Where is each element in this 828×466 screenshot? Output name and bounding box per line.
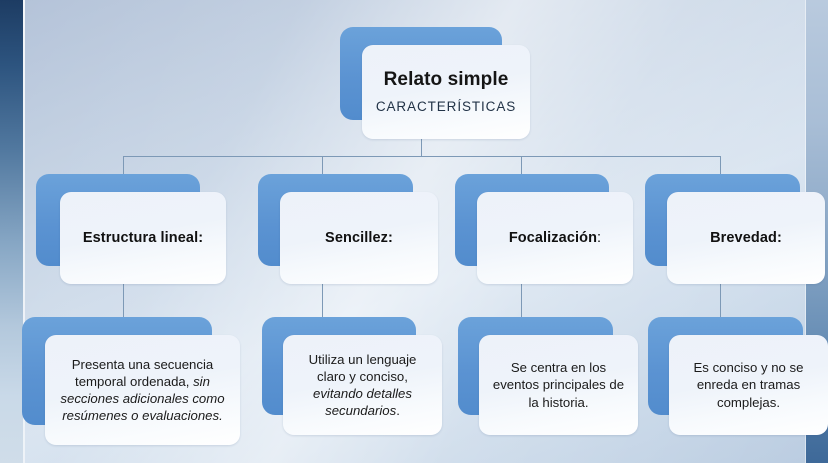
root-title: Relato simple: [384, 70, 509, 91]
branch-label-4-text: Brevedad:: [710, 230, 782, 246]
desc-node-2[interactable]: Utiliza un lenguaje claro y conciso, evi…: [262, 317, 442, 435]
slide-canvas: Relato simple CARACTERÍSTICAS Estructura…: [0, 0, 828, 466]
desc-node-4[interactable]: Es conciso y no se enreda en tramas comp…: [648, 317, 828, 435]
branch-label-3-colon: :: [597, 230, 601, 246]
desc-text-2: Utiliza un lenguaje claro y conciso, evi…: [283, 351, 442, 420]
desc-node-3-card[interactable]: Se centra en los eventos principales de …: [479, 335, 638, 435]
desc-node-3[interactable]: Se centra en los eventos principales de …: [458, 317, 638, 435]
branch-node-4-card[interactable]: Brevedad:: [667, 192, 825, 284]
branch-node-2[interactable]: Sencillez:: [258, 174, 438, 284]
desc-text-4-plain: Es conciso y no se enreda en tramas comp…: [694, 360, 804, 409]
branch-label-3-text: Focalización: [509, 230, 597, 246]
desc-text-1: Presenta una secuencia temporal ordenada…: [45, 356, 240, 425]
desc-node-1[interactable]: Presenta una secuencia temporal ordenada…: [22, 317, 240, 445]
desc-text-3: Se centra en los eventos principales de …: [479, 359, 638, 410]
desc-node-2-card[interactable]: Utiliza un lenguaje claro y conciso, evi…: [283, 335, 442, 435]
branch-label-2: Sencillez:: [325, 230, 393, 247]
connector-bus: [123, 156, 720, 157]
desc-text-2-tail: .: [396, 403, 400, 418]
branch-label-4: Brevedad:: [710, 230, 782, 247]
branch-label-3: Focalización:: [509, 230, 601, 247]
left-edge-band: [0, 0, 23, 466]
branch-node-1[interactable]: Estructura lineal:: [36, 174, 226, 284]
branch-node-4[interactable]: Brevedad:: [645, 174, 825, 284]
branch-label-1-text: Estructura lineal:: [83, 230, 203, 246]
root-node[interactable]: Relato simple CARACTERÍSTICAS: [340, 27, 530, 139]
branch-node-3[interactable]: Focalización:: [455, 174, 633, 284]
desc-node-4-card[interactable]: Es conciso y no se enreda en tramas comp…: [669, 335, 828, 435]
desc-text-2-plain: Utiliza un lenguaje claro y conciso,: [309, 352, 417, 384]
desc-text-3-plain: Se centra en los eventos principales de …: [493, 360, 624, 409]
branch-node-3-card[interactable]: Focalización:: [477, 192, 633, 284]
branch-node-1-card[interactable]: Estructura lineal:: [60, 192, 226, 284]
desc-node-1-card[interactable]: Presenta una secuencia temporal ordenada…: [45, 335, 240, 445]
root-node-card[interactable]: Relato simple CARACTERÍSTICAS: [362, 45, 530, 139]
branch-label-2-text: Sencillez:: [325, 230, 393, 246]
branch-node-2-card[interactable]: Sencillez:: [280, 192, 438, 284]
connector-root-stem: [421, 136, 422, 157]
root-subtitle: CARACTERÍSTICAS: [376, 100, 516, 115]
desc-text-4: Es conciso y no se enreda en tramas comp…: [669, 359, 828, 410]
branch-label-1: Estructura lineal:: [83, 230, 203, 247]
